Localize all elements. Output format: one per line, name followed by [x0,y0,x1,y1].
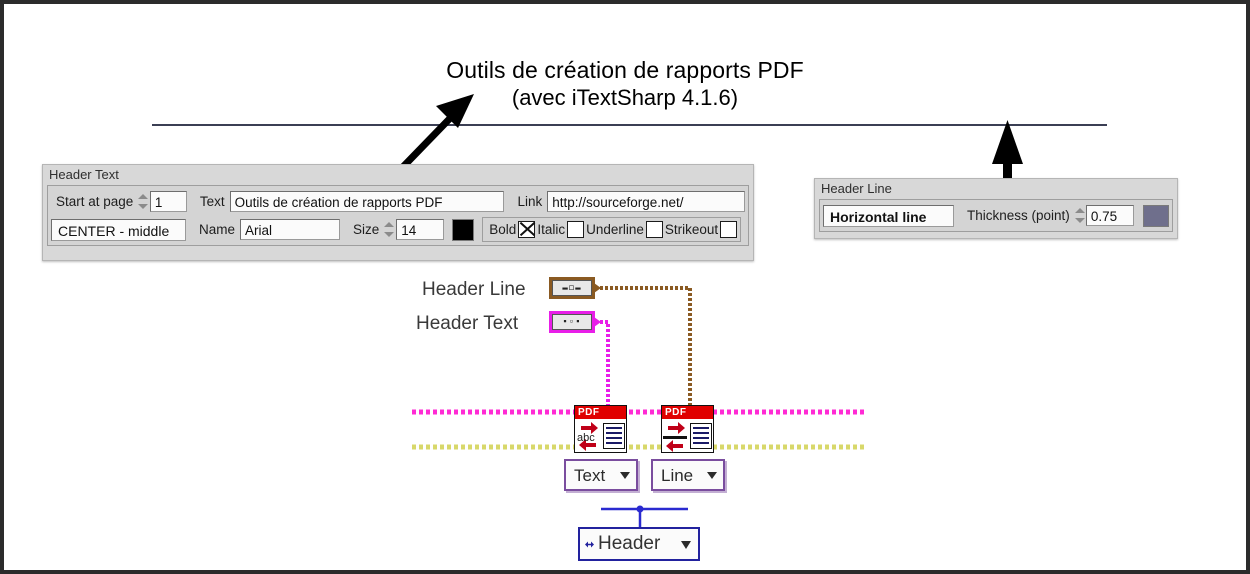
header-text-panel: Header Text Start at page 1 Text Outils … [42,164,754,261]
title-divider-line [152,124,1107,126]
enum-constant-header-value: Header [598,533,660,554]
vi-node-pdf-add-text[interactable]: PDF abc [574,405,627,453]
enum-constant-line[interactable]: Line [651,459,725,491]
header-line-panel: Header Line Horizontal line Thickness (p… [814,178,1178,239]
style-label-underline: Underline [584,222,646,237]
application-window: Outils de création de rapports PDF (avec… [0,0,1250,574]
font-color-swatch[interactable] [452,219,474,241]
chevron-down-icon[interactable] [707,472,717,479]
font-name-input[interactable]: Arial [240,219,340,240]
style-label-bold: Bold [486,222,518,237]
font-size-spinner[interactable] [384,219,395,240]
font-size-label: Size [348,222,384,237]
italic-checkbox[interactable] [567,221,584,238]
chevron-down-icon[interactable] [681,541,691,549]
start-at-page-label: Start at page [51,194,138,209]
header-text-row-1: Start at page 1 Text Outils de création … [51,189,745,214]
page-title-line2: (avec iTextSharp 4.1.6) [4,84,1246,111]
font-name-label: Name [194,222,240,237]
page-icon [603,423,625,449]
line-color-swatch[interactable] [1143,205,1169,227]
style-label-strikeout: Strikeout [663,222,720,237]
header-text-panel-body: Start at page 1 Text Outils de création … [47,185,749,246]
labview-block-diagram: Header Line Header Text ▬◻▬ ▪▫▪ [4,266,1246,571]
vi-icon-pdf-add-text-icon: abc [575,419,626,452]
page-icon [690,423,712,449]
font-size-input[interactable]: 14 [396,219,444,240]
svg-text:abc: abc [577,432,595,444]
bold-checkbox[interactable] [518,221,535,238]
underline-checkbox[interactable] [646,221,663,238]
thickness-label: Thickness (point) [962,208,1075,223]
style-label-italic: Italic [535,222,567,237]
header-text-row-2: CENTER - middle Name Arial Size 14 Bold … [51,217,745,242]
thickness-input[interactable]: 0.75 [1086,205,1134,226]
text-label: Text [195,194,230,209]
enum-constant-header[interactable]: Header [578,527,700,561]
enum-constant-line-value: Line [661,466,693,485]
vi-caption-text: PDF [575,406,626,419]
thickness-spinner[interactable] [1075,205,1085,226]
header-line-panel-body: Horizontal line Thickness (point) 0.75 [819,199,1173,232]
start-at-page-input[interactable]: 1 [150,191,187,212]
alignment-select[interactable]: CENTER - middle [51,219,186,241]
vi-caption-line: PDF [662,406,713,419]
start-at-page-spinner[interactable] [138,191,149,212]
enum-constant-text-value: Text [574,466,605,485]
link-label: Link [512,194,547,209]
font-style-group: Bold Italic Underline Strikeout [482,217,741,242]
vi-node-pdf-add-line[interactable]: PDF [661,405,714,453]
enum-constant-text[interactable]: Text [564,459,638,491]
vi-icon-pdf-add-line-icon [662,419,713,452]
page-title-line1: Outils de création de rapports PDF [4,56,1246,84]
header-text-panel-title: Header Text [43,165,753,185]
left-right-arrow-icon [585,541,594,548]
link-input[interactable]: http://sourceforge.net/ [547,191,745,212]
chevron-down-icon[interactable] [620,472,630,479]
header-text-input[interactable]: Outils de création de rapports PDF [230,191,505,212]
page-title: Outils de création de rapports PDF (avec… [4,56,1246,111]
strikeout-checkbox[interactable] [720,221,737,238]
line-type-select[interactable]: Horizontal line [823,205,954,227]
header-line-panel-title: Header Line [815,179,1177,199]
header-line-row-1: Horizontal line Thickness (point) 0.75 [823,203,1169,228]
